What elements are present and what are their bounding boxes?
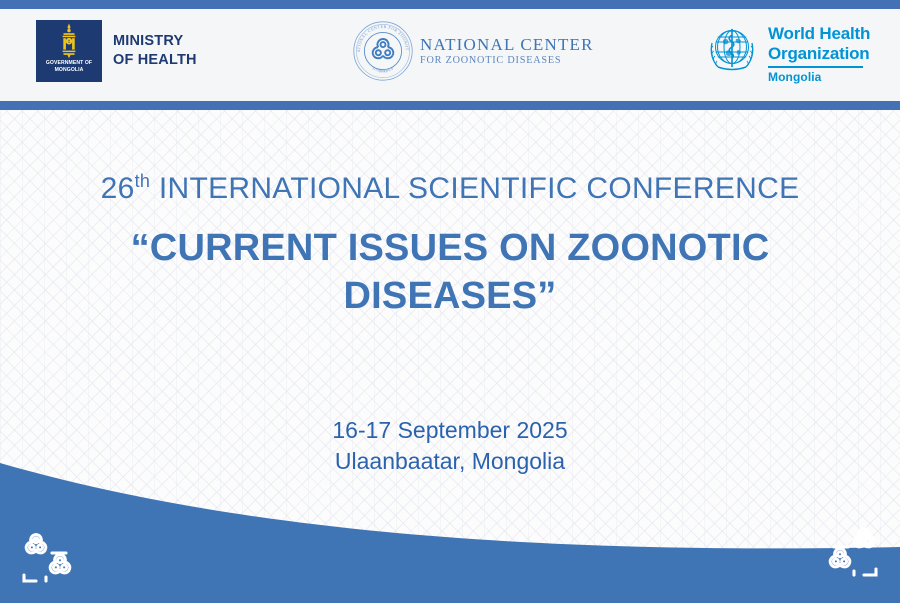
conference-edition-line: 26th INTERNATIONAL SCIENTIFIC CONFERENCE [0, 170, 900, 208]
top-accent-bar [0, 0, 900, 9]
mongolia-soyombo-emblem-icon [56, 23, 82, 59]
event-location: Ulaanbaatar, Mongolia [0, 446, 900, 477]
conference-theme-line-2: DISEASES” [0, 272, 900, 320]
conference-number: 26 [101, 172, 135, 205]
who-globe-asclepius-icon [702, 20, 762, 80]
nczd-circular-seal-icon: NATIONAL CENTER FOR ZOONOTIC DISEASES 19… [352, 20, 414, 82]
conference-theme-line-1: “CURRENT ISSUES ON ZOONOTIC [0, 224, 900, 272]
who-underline-rule [768, 66, 863, 68]
mongolia-government-emblem: GOVERNMENT OF MONGOLIA [36, 20, 102, 82]
conference-theme-title: “CURRENT ISSUES ON ZOONOTIC DISEASES” [0, 224, 900, 320]
nczd-name: NATIONAL CENTER FOR ZOONOTIC DISEASES [420, 35, 594, 67]
event-meta-block: 16-17 September 2025 Ulaanbaatar, Mongol… [0, 415, 900, 477]
svg-text:1931: 1931 [379, 70, 387, 74]
who-name-block: World Health Organization Mongolia [768, 20, 870, 84]
ornament-left [16, 525, 90, 587]
slide-body: 26th INTERNATIONAL SCIENTIFIC CONFERENCE… [0, 110, 900, 603]
header-divider-bar [0, 101, 900, 110]
ministry-of-health-name: MINISTRY OF HEALTH [113, 32, 197, 70]
conference-line-text: INTERNATIONAL SCIENTIFIC CONFERENCE [150, 172, 799, 205]
title-block: 26th INTERNATIONAL SCIENTIFIC CONFERENCE… [0, 170, 900, 320]
ministry-of-health-logo: GOVERNMENT OF MONGOLIA MINISTRY OF HEALT… [36, 20, 197, 82]
who-mongolia-logo: World Health Organization Mongolia [702, 20, 870, 84]
national-center-zoonotic-diseases-logo: NATIONAL CENTER FOR ZOONOTIC DISEASES 19… [352, 20, 594, 82]
bottom-wave-decoration [0, 463, 900, 603]
conference-ordinal-suffix: th [135, 171, 151, 191]
conference-title-slide: GOVERNMENT OF MONGOLIA MINISTRY OF HEALT… [0, 0, 900, 603]
ornament-right [810, 519, 884, 581]
emblem-caption: GOVERNMENT OF MONGOLIA [46, 60, 92, 73]
event-dates: 16-17 September 2025 [0, 415, 900, 446]
